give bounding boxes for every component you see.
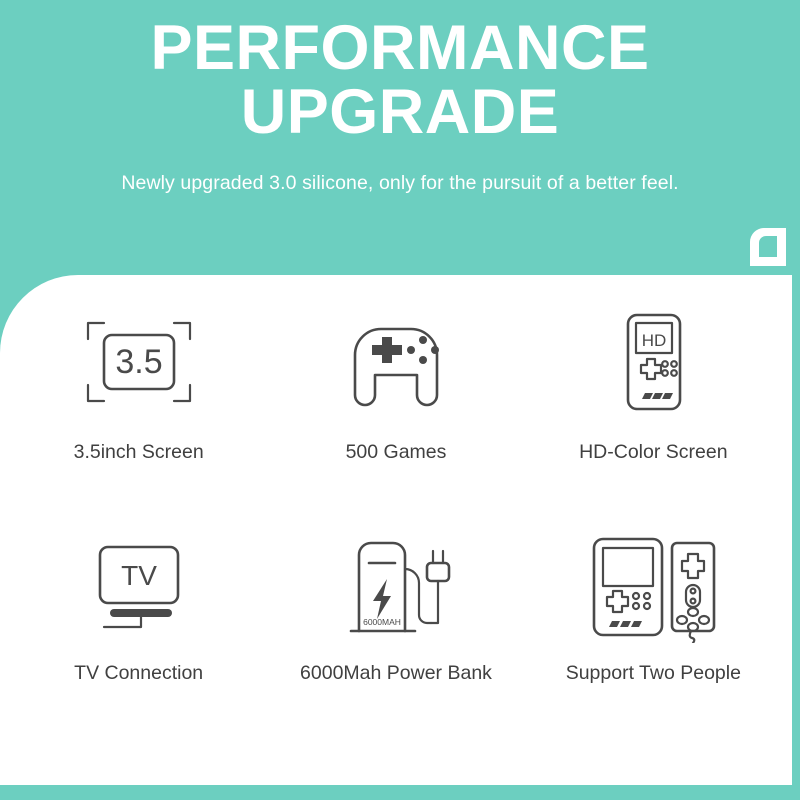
feature-label-two-players: Support Two People: [566, 662, 741, 685]
page-subtitle: Newly upgraded 3.0 silicone, only for th…: [0, 172, 800, 195]
brand-bracket-logo-icon: [748, 226, 788, 268]
feature-hd-screen: HD HD-Color Screen: [525, 297, 782, 528]
feature-games-count: 500 Games: [267, 297, 524, 528]
power-bank-capacity: 6000MAH: [363, 617, 401, 627]
title-line-1: PERFORMANCE: [150, 13, 649, 83]
gamepad-icon: [331, 297, 461, 427]
feature-two-players: Support Two People: [525, 528, 782, 759]
promo-banner: PERFORMANCE UPGRADE Newly upgraded 3.0 s…: [0, 0, 800, 800]
feature-screen-size: 3.5 3.5inch Screen: [10, 297, 267, 528]
charging-station-icon: 6000MAH: [331, 528, 461, 648]
feature-power-bank: 6000MAH 6000Mah Power Bank: [267, 528, 524, 759]
page-title: PERFORMANCE UPGRADE: [0, 16, 800, 145]
tv-icon: TV: [74, 528, 204, 648]
feature-label-power-bank: 6000Mah Power Bank: [300, 662, 492, 685]
features-grid: 3.5 3.5inch Screen: [0, 275, 792, 785]
tv-label: TV: [121, 560, 157, 591]
feature-tv-connection: TV TV Connection: [10, 528, 267, 759]
features-card: 3.5 3.5inch Screen: [0, 275, 792, 785]
handheld-console-icon: HD: [588, 297, 718, 427]
header-section: PERFORMANCE UPGRADE Newly upgraded 3.0 s…: [0, 0, 800, 275]
screen-scan-icon: 3.5: [74, 297, 204, 427]
title-line-2: UPGRADE: [0, 80, 800, 144]
feature-label-hd-screen: HD-Color Screen: [579, 441, 727, 464]
console-and-controller-icon: [578, 528, 728, 648]
feature-label-games-count: 500 Games: [346, 441, 447, 464]
feature-label-tv-connection: TV Connection: [74, 662, 203, 685]
hd-label: HD: [642, 331, 667, 350]
feature-label-screen-size: 3.5inch Screen: [74, 441, 204, 464]
screen-size-value: 3.5: [115, 343, 162, 381]
